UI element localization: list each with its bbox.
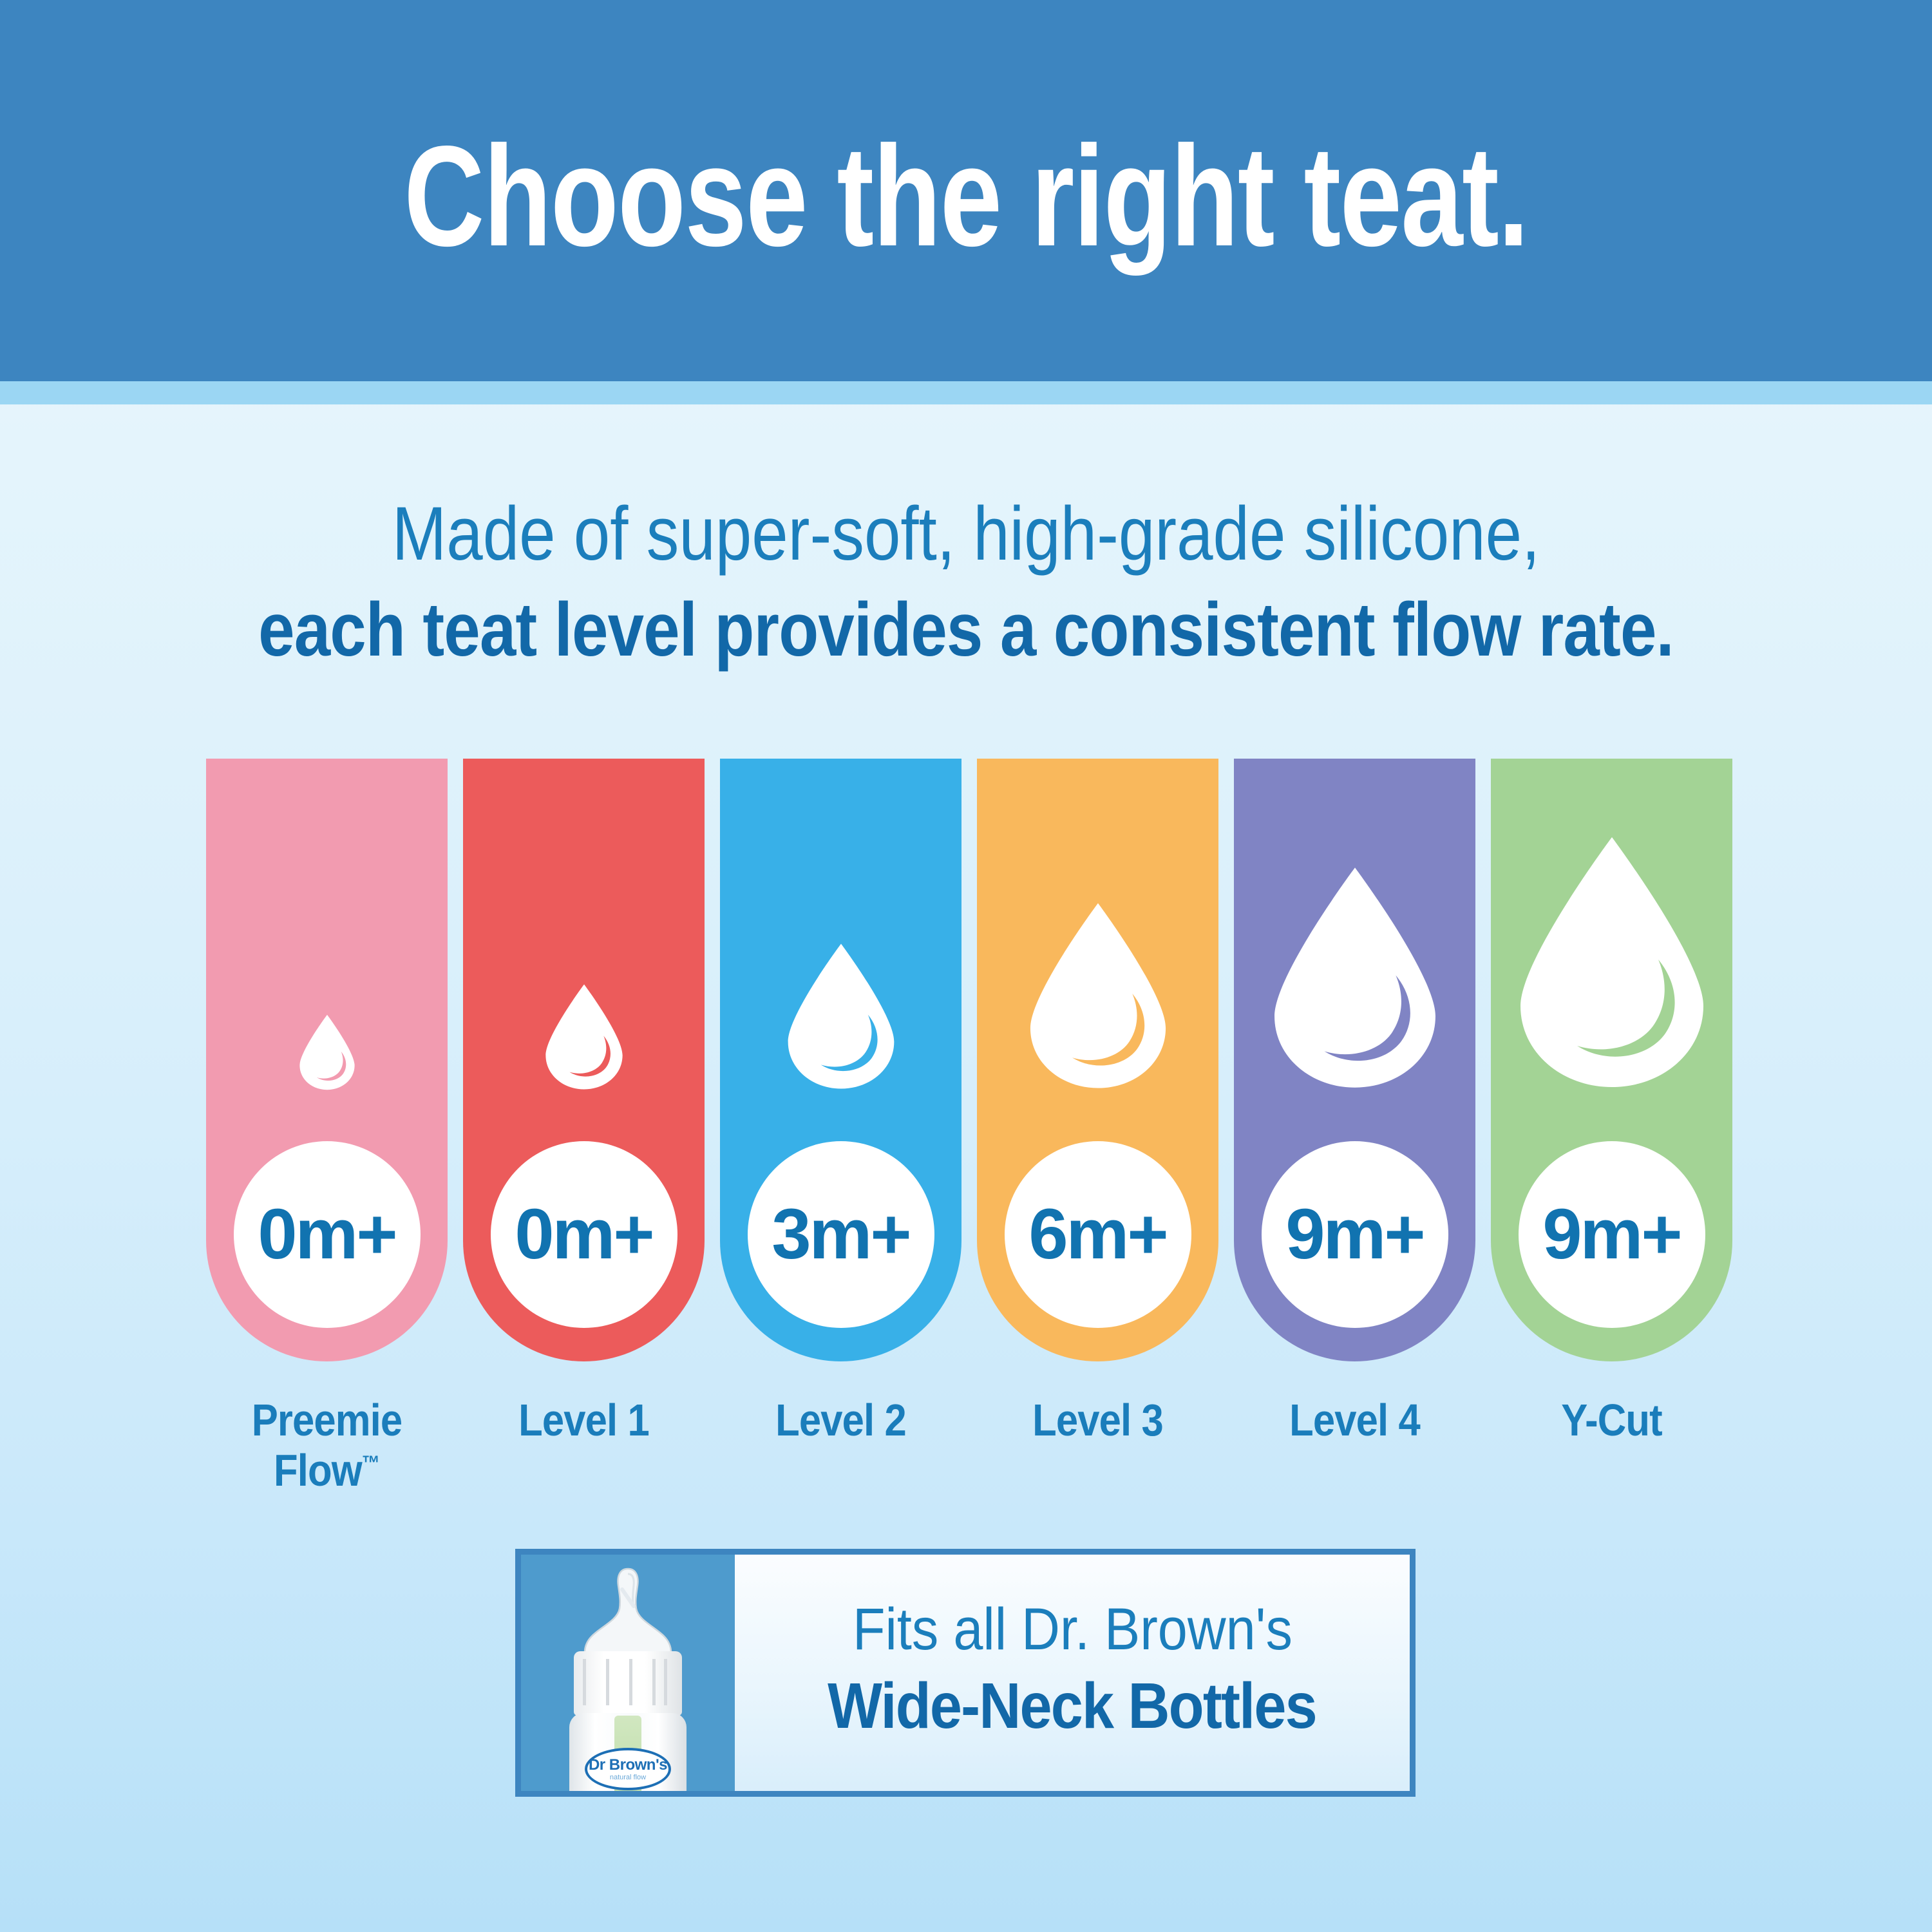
page-title: Choose the right teat. bbox=[213, 0, 1719, 381]
subtitle-line-2: each teat level provides a consistent fl… bbox=[135, 584, 1797, 677]
age-badge: 9m+ bbox=[1262, 1141, 1448, 1328]
droplet-area bbox=[1234, 820, 1475, 1091]
age-badge-label: 0m+ bbox=[258, 1199, 395, 1270]
water-droplet-icon bbox=[785, 942, 897, 1091]
age-badge: 9m+ bbox=[1519, 1141, 1705, 1328]
age-badge: 3m+ bbox=[748, 1141, 934, 1328]
teat-label-line-2: Flow™ bbox=[221, 1445, 433, 1495]
fits-line-2: Wide-Neck Bottles bbox=[828, 1667, 1317, 1745]
teat-column[interactable]: 3m+ bbox=[720, 759, 961, 1361]
teat-level-columns: 0m+0m+3m+6m+9m+9m+ bbox=[206, 759, 1732, 1361]
teat-label-line-1: Level 1 bbox=[478, 1395, 690, 1445]
trademark-symbol: ™ bbox=[362, 1452, 380, 1475]
dr-browns-logo: Dr Brown's natural flow bbox=[585, 1748, 671, 1790]
teat-label-line-2-text: Flow bbox=[274, 1445, 362, 1495]
teat-label-line-1: Level 2 bbox=[735, 1395, 947, 1445]
teat-label: Level 4 bbox=[1249, 1395, 1461, 1496]
age-badge-label: 9m+ bbox=[1285, 1199, 1423, 1270]
teat-label: Level 1 bbox=[478, 1395, 690, 1496]
header-accent-rule bbox=[0, 381, 1932, 404]
teat-label-line-1: Level 3 bbox=[992, 1395, 1204, 1445]
teat-label: PreemieFlow™ bbox=[221, 1395, 433, 1496]
droplet-area bbox=[206, 820, 448, 1091]
water-droplet-icon bbox=[1270, 864, 1440, 1091]
teat-column[interactable]: 0m+ bbox=[206, 759, 448, 1361]
teat-column[interactable]: 6m+ bbox=[977, 759, 1218, 1361]
teat-level-labels: PreemieFlow™Level 1Level 2Level 3Level 4… bbox=[206, 1395, 1732, 1496]
logo-wordmark: Dr Brown's bbox=[589, 1757, 667, 1773]
infographic-page: Choose the right teat. Made of super-sof… bbox=[0, 0, 1932, 1932]
teat-column[interactable]: 9m+ bbox=[1234, 759, 1475, 1361]
teat-column[interactable]: 9m+ bbox=[1491, 759, 1732, 1361]
teat-label-line-1: Y-Cut bbox=[1506, 1395, 1718, 1445]
teat-label: Level 3 bbox=[992, 1395, 1204, 1496]
water-droplet-icon bbox=[1027, 900, 1170, 1091]
droplet-area bbox=[977, 820, 1218, 1091]
age-badge-label: 9m+ bbox=[1542, 1199, 1680, 1270]
water-droplet-icon bbox=[1515, 833, 1709, 1091]
age-badge: 0m+ bbox=[491, 1141, 677, 1328]
teat-label-line-1: Preemie bbox=[221, 1395, 433, 1445]
fits-card-text: Fits all Dr. Brown's Wide-Neck Bottles bbox=[735, 1555, 1410, 1791]
age-badge: 6m+ bbox=[1005, 1141, 1191, 1328]
teat-label: Y-Cut bbox=[1506, 1395, 1718, 1496]
water-droplet-icon bbox=[298, 1014, 356, 1091]
age-badge-label: 3m+ bbox=[772, 1199, 909, 1270]
water-droplet-icon bbox=[544, 983, 625, 1091]
teat-column[interactable]: 0m+ bbox=[463, 759, 705, 1361]
teat-label-line-1: Level 4 bbox=[1249, 1395, 1461, 1445]
bottle-teat-icon bbox=[580, 1566, 676, 1663]
fits-all-bottles-card: Dr Brown's natural flow Fits all Dr. Bro… bbox=[515, 1549, 1416, 1797]
bottle-photo: Dr Brown's natural flow bbox=[521, 1555, 735, 1791]
fits-line-1: Fits all Dr. Brown's bbox=[853, 1596, 1293, 1664]
droplet-area bbox=[463, 820, 705, 1091]
logo-tagline: natural flow bbox=[610, 1774, 646, 1781]
droplet-area bbox=[1491, 820, 1732, 1091]
bottle-collar bbox=[574, 1651, 682, 1716]
droplet-area bbox=[720, 820, 961, 1091]
age-badge-label: 0m+ bbox=[515, 1199, 652, 1270]
age-badge-label: 6m+ bbox=[1028, 1199, 1166, 1270]
subtitle-line-1: Made of super-soft, high-grade silicone, bbox=[135, 489, 1797, 579]
age-badge: 0m+ bbox=[234, 1141, 421, 1328]
subtitle-block: Made of super-soft, high-grade silicone,… bbox=[0, 489, 1932, 677]
header-band: Choose the right teat. bbox=[0, 0, 1932, 381]
teat-label: Level 2 bbox=[735, 1395, 947, 1496]
